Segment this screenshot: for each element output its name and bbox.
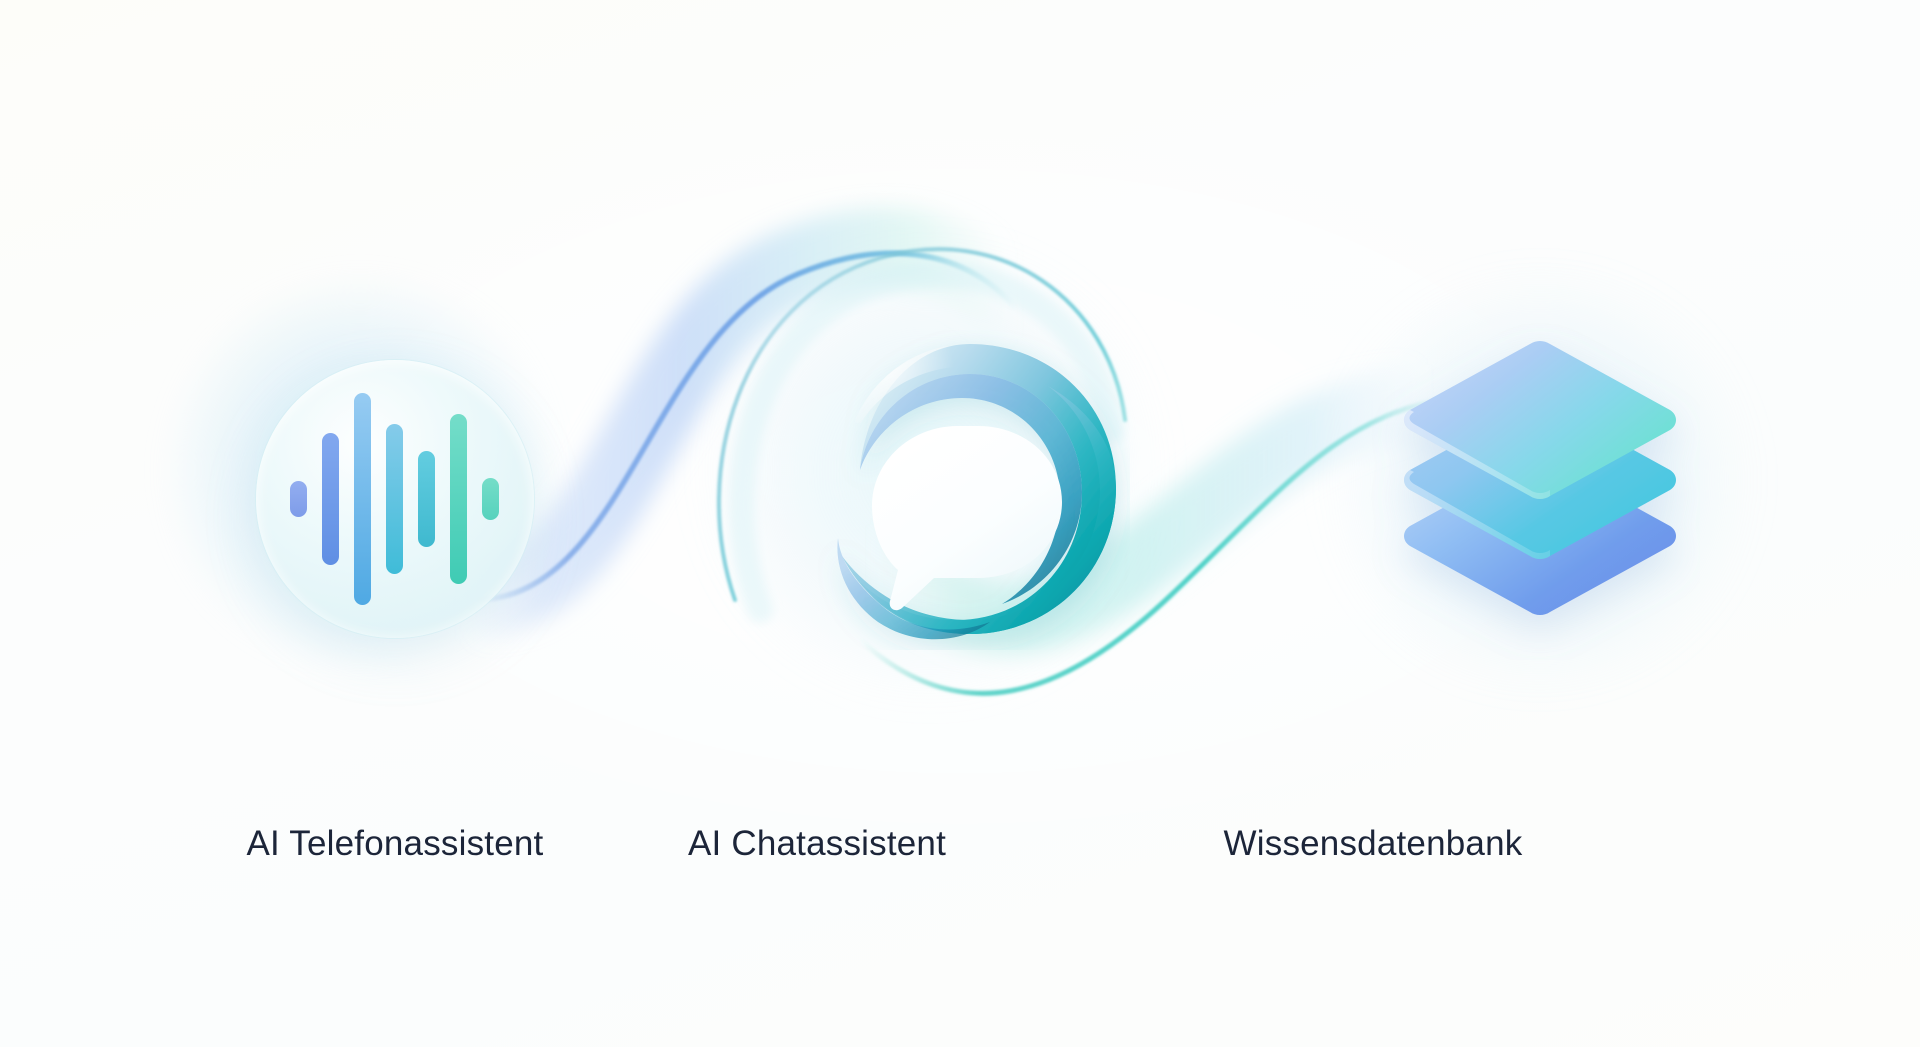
label-wissensdatenbank: Wissensdatenbank [1093,824,1653,864]
waveform-bars [290,384,500,614]
wf-bar-2 [322,433,339,565]
chat-bubble-swirl-icon[interactable] [810,330,1130,650]
wf-bar-1 [290,481,307,517]
illustration-canvas: AI Telefonassistent AI Chatassistent Wis… [0,0,1920,1047]
stacked-layers-icon[interactable] [1370,320,1700,660]
wf-bar-6 [450,414,467,584]
voice-waveform-icon[interactable] [256,360,534,638]
chat-node[interactable] [810,330,1130,650]
wf-bar-5 [418,451,435,547]
wf-bar-4 [386,424,403,574]
label-ai-chatassistent: AI Chatassistent [537,824,1097,864]
wf-bar-7 [482,478,499,520]
knowledge-node[interactable] [1370,320,1700,660]
wf-bar-3 [354,393,371,605]
